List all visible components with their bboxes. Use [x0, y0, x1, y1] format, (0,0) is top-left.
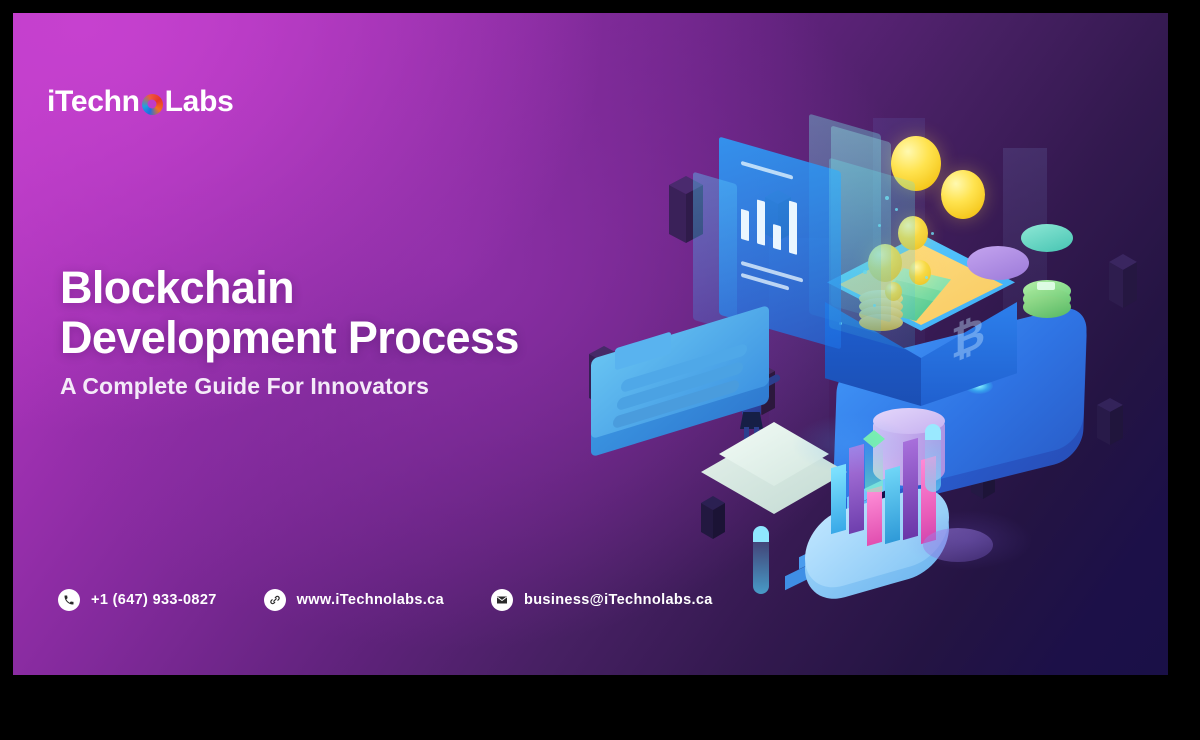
gold-coin	[941, 170, 985, 219]
contact-bar: +1 (647) 933-0827 www.iTechnolabs.ca	[58, 589, 713, 611]
chart-bar	[831, 464, 846, 534]
screen-text-line	[741, 161, 793, 180]
screen-bar	[741, 209, 749, 241]
contact-email[interactable]: business@iTechnolabs.ca	[491, 589, 713, 611]
chart-bar	[867, 486, 882, 546]
page-title: Blockchain Development Process	[60, 263, 519, 363]
data-screen-front	[693, 172, 737, 333]
envelope-icon	[491, 589, 513, 611]
headline-line-1: Blockchain	[60, 262, 294, 313]
blockchain-illustration: ₿	[573, 108, 1153, 608]
sparkle-dot	[925, 276, 928, 279]
outer-frame: ₿	[0, 0, 1200, 740]
green-token-label	[1037, 282, 1055, 290]
contact-website-label: www.iTechnolabs.ca	[297, 592, 444, 608]
chart-bar	[885, 466, 900, 544]
sparkle-dot	[931, 232, 934, 235]
screen-bar	[757, 199, 765, 245]
headline-line-2: Development Process	[60, 313, 519, 363]
marker-pin	[925, 434, 941, 492]
screen-bar	[773, 224, 781, 250]
screen-bar	[789, 201, 797, 255]
ambient-glow	[791, 414, 911, 474]
green-token	[1023, 296, 1071, 318]
banner-canvas: ₿	[13, 13, 1168, 675]
teal-token	[1021, 224, 1073, 252]
marker-pin-head	[753, 526, 769, 542]
brand-logo-circle-icon	[142, 94, 163, 115]
purple-ellipse	[923, 528, 993, 562]
marker-pin	[753, 536, 769, 594]
brand-logo[interactable]: iTechn Labs	[47, 85, 233, 119]
contact-email-label: business@iTechnolabs.ca	[524, 592, 713, 608]
contact-website[interactable]: www.iTechnolabs.ca	[264, 589, 444, 611]
data-screen-side	[829, 158, 915, 353]
brand-name-part2: Labs	[165, 85, 234, 119]
purple-token	[967, 246, 1029, 280]
contact-phone[interactable]: +1 (647) 933-0827	[58, 589, 217, 611]
phone-icon	[58, 589, 80, 611]
contact-phone-label: +1 (647) 933-0827	[91, 592, 217, 608]
marker-pin-head	[925, 424, 941, 440]
page-subtitle: A Complete Guide For Innovators	[60, 373, 429, 400]
link-icon	[264, 589, 286, 611]
brand-name-part1: iTechn	[47, 85, 140, 119]
